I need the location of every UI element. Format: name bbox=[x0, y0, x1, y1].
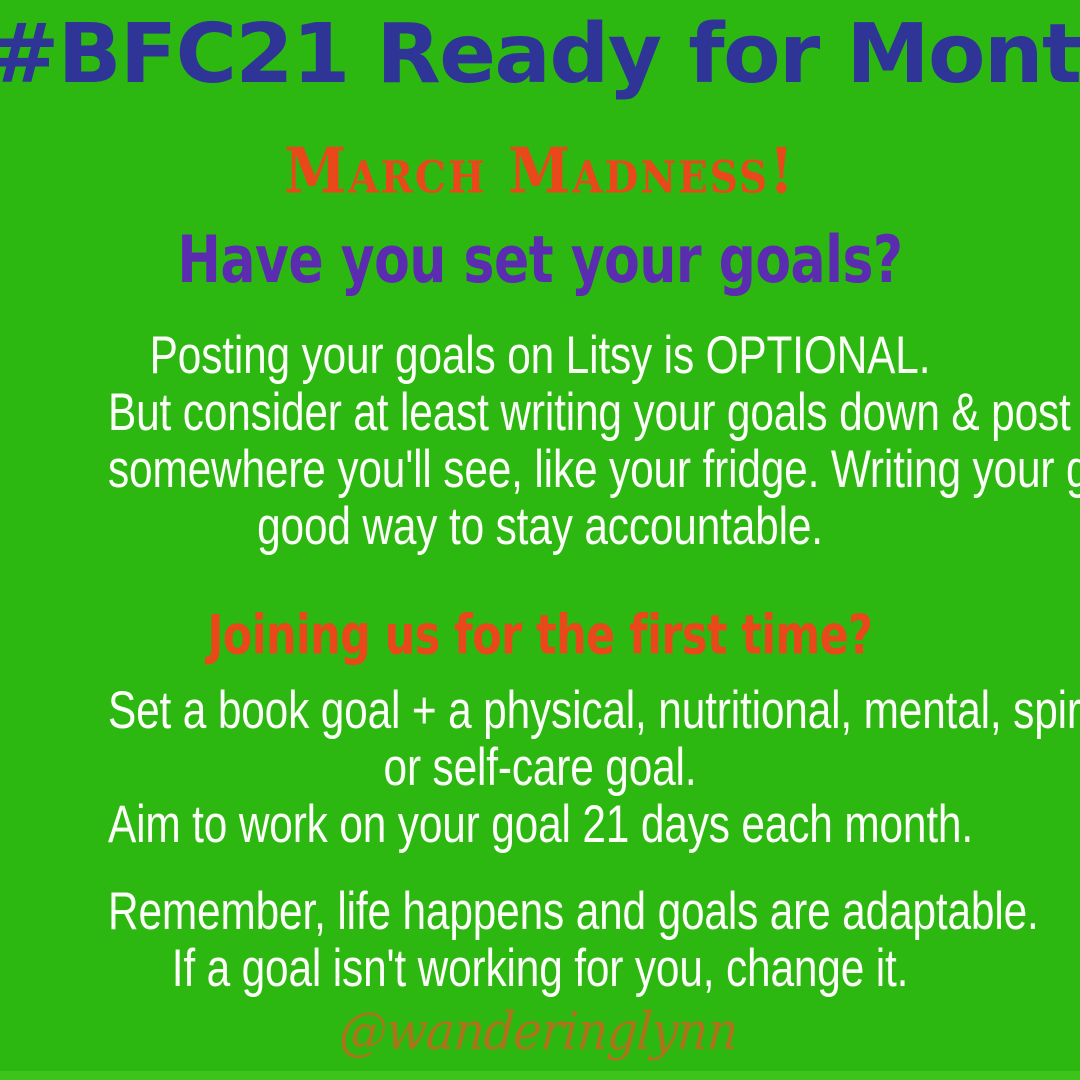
body-line: good way to stay accountable. bbox=[108, 498, 972, 555]
body-paragraph-goals-adaptable: Remember, life happens and goals are ada… bbox=[108, 883, 972, 997]
body-line: Set a book goal + a physical, nutritiona… bbox=[108, 682, 972, 739]
watermark-handle: @wanderinglynn bbox=[40, 1006, 1037, 1058]
subheading-march-madness: March Madness! bbox=[0, 140, 1080, 203]
body-line: or self-care goal. bbox=[108, 739, 972, 796]
subheading-have-you-set-your-goals: Have you set your goals? bbox=[0, 228, 1080, 293]
body-line: Remember, life happens and goals are ada… bbox=[108, 883, 972, 940]
body-line: somewhere you'll see, like your fridge. … bbox=[108, 441, 972, 498]
body-line: But consider at least writing your goals… bbox=[108, 384, 972, 441]
subheading-joining-us-first-time: Joining us for the first time? bbox=[0, 608, 1080, 663]
body-line: Aim to work on your goal 21 days each mo… bbox=[108, 796, 972, 853]
body-line: If a goal isn't working for you, change … bbox=[108, 940, 972, 997]
body-line: Posting your goals on Litsy is OPTIONAL. bbox=[108, 327, 972, 384]
body-paragraph-optional-posting: Posting your goals on Litsy is OPTIONAL.… bbox=[108, 327, 972, 555]
bottom-edge-strip bbox=[0, 1071, 1080, 1080]
page-title: #BFC21 Ready for Month 3 bbox=[0, 14, 1080, 96]
poster-canvas: #BFC21 Ready for Month 3 March Madness! … bbox=[0, 0, 1080, 1080]
body-paragraph-goal-setup: Set a book goal + a physical, nutritiona… bbox=[108, 682, 972, 853]
